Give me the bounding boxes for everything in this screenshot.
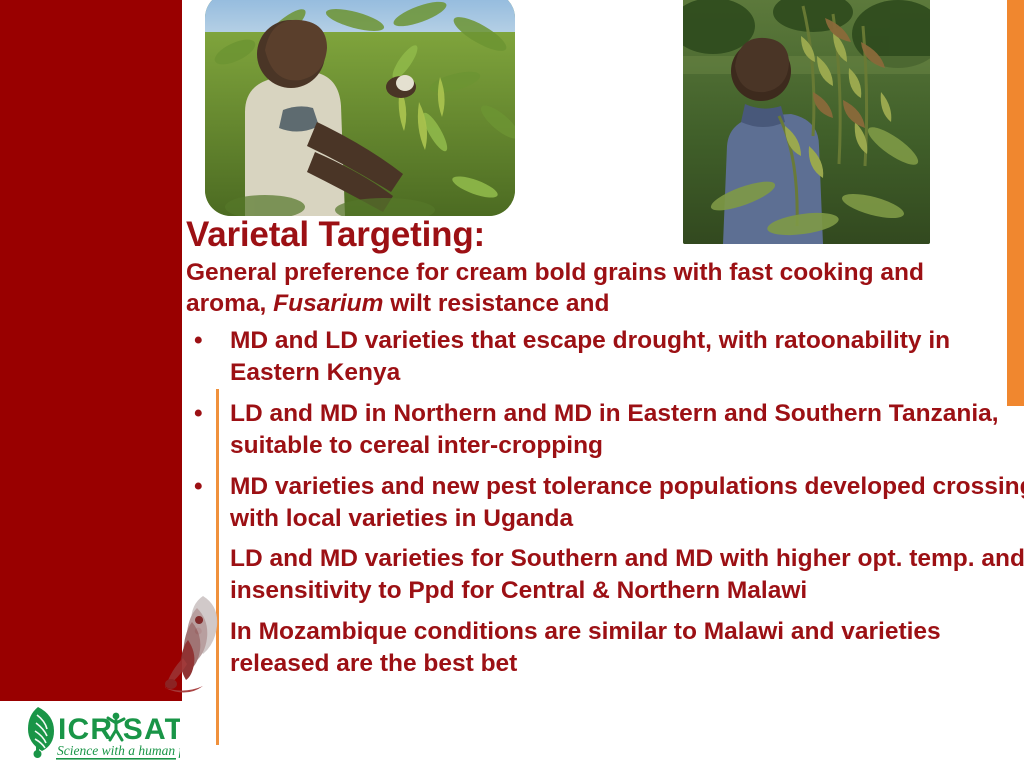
slide-title: Varietal Targeting: [186,216,1006,253]
list-item-text: MD varieties and new pest tolerance popu… [230,473,1024,532]
list-item-text: LD and MD in Northern and MD in Eastern … [230,400,999,459]
left-sidebar-band [0,0,182,768]
intro-part-two: wilt resistance and [383,290,609,317]
slide-content: Varietal Targeting: General preference f… [186,216,1006,689]
bullet-marker-icon: • [194,616,203,648]
list-item-text: MD and LD varieties that escape drought,… [230,327,950,386]
bullet-marker-icon: • [194,471,203,503]
list-item-text: LD and MD varieties for Southern and MD … [230,545,1024,604]
list-item-text: In Mozambique conditions are similar to … [230,618,941,677]
list-item: • In Mozambique conditions are similar t… [186,616,1024,680]
intro-paragraph: General preference for cream bold grains… [186,257,976,319]
icrisat-logo: ICR SAT Science with a human face [12,705,180,761]
list-item: • MD varieties and new pest tolerance po… [186,471,1024,535]
photo-harvested-pigeonpea [683,0,930,244]
list-item: • MD and LD varieties that escape drough… [186,325,1024,389]
photo-farmer-in-field [205,0,515,216]
svg-text:Science with a human face: Science with a human face [57,743,180,758]
intro-italic-term: Fusarium [273,290,383,317]
bullet-list: • MD and LD varieties that escape drough… [186,325,1006,679]
bullet-marker-icon: • [194,325,203,357]
presentation-slide: Varietal Targeting: General preference f… [0,0,1024,768]
bullet-marker-icon: • [194,398,203,430]
list-item: • LD and MD varieties for Southern and M… [186,543,1024,607]
svg-text:ICR SAT: ICR SAT [58,713,180,746]
list-item: • LD and MD in Northern and MD in Easter… [186,398,1024,462]
